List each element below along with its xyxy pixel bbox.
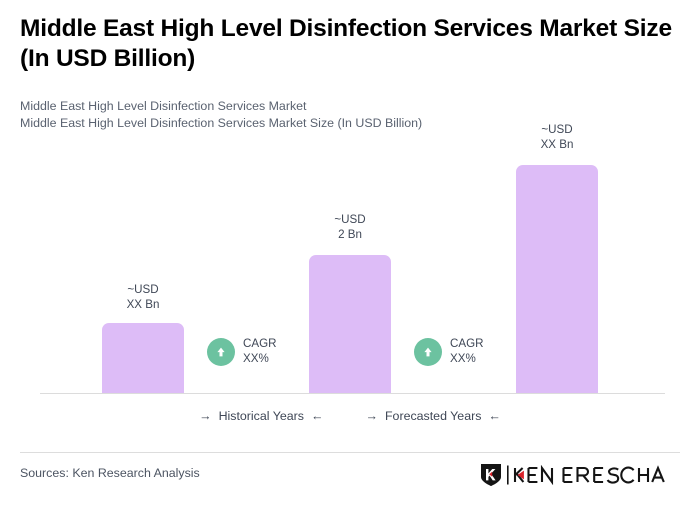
cagr-value-2: XX% (450, 352, 476, 365)
ken-research-shield-icon (480, 463, 502, 487)
bar-label-3-currency: ~USD (516, 123, 598, 138)
bar-label-2: ~USD 2 Bn (309, 213, 391, 242)
cagr-text-2: CAGR XX% (450, 337, 484, 366)
arrow-right-icon: → (199, 410, 212, 423)
legend-item-forecasted-years: → Forecasted Years ← (365, 409, 500, 423)
bar-forecast-year[interactable] (516, 165, 598, 394)
chart-baseline (40, 393, 665, 394)
cagr-label-2: CAGR (450, 337, 484, 350)
legend-item-historical-years: → Historical Years ← (199, 409, 323, 423)
legend-label-historical-years: Historical Years (219, 409, 304, 423)
bar-label-1: ~USD XX Bn (102, 283, 184, 312)
arrow-up-icon (207, 338, 235, 366)
arrow-left-icon: ← (488, 410, 501, 423)
bar-label-2-currency: ~USD (309, 213, 391, 228)
arrow-left-icon: ← (311, 410, 324, 423)
sources-text: Sources: Ken Research Analysis (20, 466, 200, 480)
arrow-up-icon (414, 338, 442, 366)
cagr-text-1: CAGR XX% (243, 337, 277, 366)
bar-base-year[interactable] (309, 255, 391, 394)
bar-label-1-currency: ~USD (102, 283, 184, 298)
bar-label-2-amount: 2 Bn (309, 228, 391, 243)
cagr-label-1: CAGR (243, 337, 277, 350)
cagr-annotation-2: CAGR XX% (414, 337, 484, 366)
chart-plot-area: ~USD XX Bn CAGR XX% ~USD 2 Bn (0, 0, 700, 400)
cagr-value-1: XX% (243, 352, 269, 365)
footer-divider (20, 452, 680, 453)
axis-legend: → Historical Years ← → Forecasted Years … (0, 409, 700, 423)
bar-label-3: ~USD XX Bn (516, 123, 598, 152)
chart-page: Middle East High Level Disinfection Serv… (0, 0, 700, 520)
legend-label-forecasted-years: Forecasted Years (385, 409, 481, 423)
bar-label-3-amount: XX Bn (516, 138, 598, 153)
bar-label-1-amount: XX Bn (102, 298, 184, 313)
cagr-annotation-1: CAGR XX% (207, 337, 277, 366)
arrow-right-icon: → (365, 410, 378, 423)
bar-historical-year[interactable] (102, 323, 184, 394)
ken-research-wordmark-icon (507, 465, 665, 485)
ken-research-logo (480, 463, 665, 487)
